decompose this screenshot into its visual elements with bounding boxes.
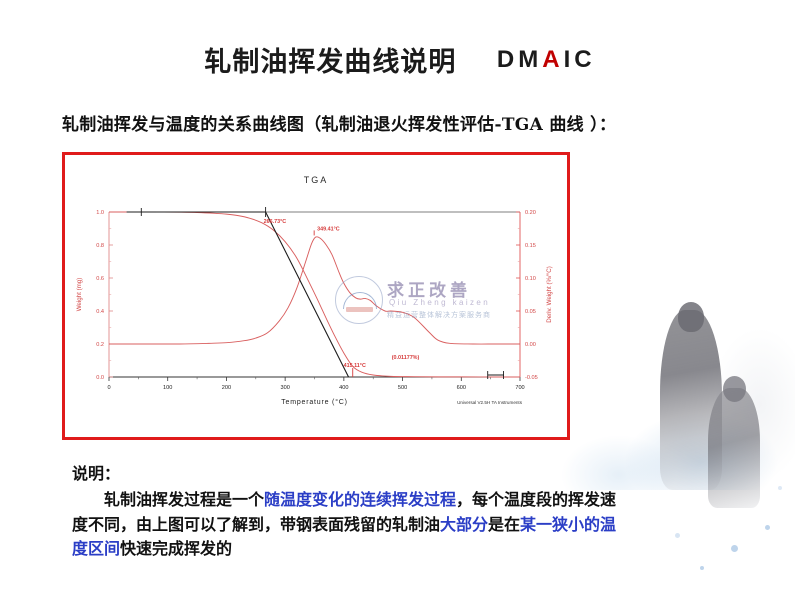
splash-dot bbox=[778, 486, 782, 490]
dmaic-letter-i: I bbox=[564, 46, 575, 73]
tga-chart: TGA 1.00.80.60.40.20.00.200.150.100.050.… bbox=[65, 155, 567, 437]
svg-text:415.11°C: 415.11°C bbox=[344, 363, 366, 369]
figure-silhouette-short bbox=[708, 388, 760, 508]
svg-text:0: 0 bbox=[107, 385, 110, 391]
svg-text:0.8: 0.8 bbox=[96, 243, 104, 249]
splash-dot bbox=[700, 566, 704, 570]
explanation-block: 说明： 轧制油挥发过程是一个随温度变化的连续挥发过程，每个温度段的挥发速度不同，… bbox=[72, 462, 632, 561]
chart-title: TGA bbox=[65, 175, 567, 185]
dmaic-letter-a: A bbox=[542, 46, 563, 73]
svg-text:Temperature (°C): Temperature (°C) bbox=[281, 398, 348, 406]
svg-text:Weight (mg): Weight (mg) bbox=[76, 278, 83, 312]
splash-dot bbox=[765, 525, 770, 530]
svg-text:0.15: 0.15 bbox=[525, 243, 536, 249]
svg-text:266.73°C: 266.73°C bbox=[264, 219, 287, 225]
svg-text:200: 200 bbox=[222, 385, 231, 391]
svg-text:Deriv. Weight (%/°C): Deriv. Weight (%/°C) bbox=[546, 266, 553, 323]
explanation-heading: 说明： bbox=[72, 462, 632, 486]
svg-text:600: 600 bbox=[457, 385, 466, 391]
svg-text:0.2: 0.2 bbox=[96, 342, 104, 348]
tga-plot-svg: 1.00.80.60.40.20.00.200.150.100.050.00-0… bbox=[65, 155, 567, 437]
series-weight--mg- bbox=[109, 212, 520, 377]
dmaic-letter-d: D bbox=[497, 46, 518, 73]
svg-text:-0.05: -0.05 bbox=[525, 375, 538, 381]
explanation-highlight-1: 随温度变化的连续挥发过程 bbox=[264, 490, 456, 509]
svg-text:349.41°C: 349.41°C bbox=[317, 226, 340, 232]
explanation-text-3: 是在 bbox=[488, 515, 520, 534]
svg-text:700: 700 bbox=[515, 385, 524, 391]
series-deriv--weight-----c- bbox=[109, 237, 520, 344]
explanation-body: 轧制油挥发过程是一个随温度变化的连续挥发过程，每个温度段的挥发速度不同，由上图可… bbox=[72, 488, 632, 561]
section-subtitle: 轧制油挥发与温度的关系曲线图（轧制油退火挥发性评估-TGA 曲线 ）： bbox=[62, 110, 762, 135]
page-title: 轧制油挥发曲线说明 bbox=[204, 40, 456, 79]
svg-text:1.0: 1.0 bbox=[96, 210, 104, 216]
splash-dot bbox=[675, 533, 680, 538]
figure-silhouette-tall bbox=[660, 310, 722, 490]
svg-text:(0.01177%): (0.01177%) bbox=[392, 355, 420, 361]
svg-text:Universal V2.5H TA Instruments: Universal V2.5H TA Instruments bbox=[457, 400, 523, 405]
svg-text:0.6: 0.6 bbox=[96, 276, 104, 282]
svg-text:0.0: 0.0 bbox=[96, 375, 104, 381]
explanation-text-4: 快速完成挥发的 bbox=[120, 539, 232, 558]
svg-text:0.20: 0.20 bbox=[525, 210, 536, 216]
splash-dot bbox=[731, 545, 738, 552]
svg-text:500: 500 bbox=[398, 385, 407, 391]
slide-title-row: 轧制油挥发曲线说明 DMAIC bbox=[0, 40, 800, 79]
explanation-text-1: 轧制油挥发过程是一个 bbox=[104, 490, 264, 509]
svg-text:0.00: 0.00 bbox=[525, 342, 536, 348]
explanation-highlight-2: 大部分 bbox=[440, 515, 488, 534]
svg-text:0.4: 0.4 bbox=[96, 309, 104, 315]
figure-head-tall bbox=[678, 302, 704, 332]
tga-chart-frame: TGA 1.00.80.60.40.20.00.200.150.100.050.… bbox=[62, 152, 570, 440]
svg-text:100: 100 bbox=[163, 385, 172, 391]
svg-text:400: 400 bbox=[339, 385, 348, 391]
svg-text:0.10: 0.10 bbox=[525, 276, 536, 282]
figure-head-short bbox=[723, 376, 746, 402]
svg-text:0.05: 0.05 bbox=[525, 309, 536, 315]
svg-text:300: 300 bbox=[280, 385, 289, 391]
dmaic-letter-c: C bbox=[574, 46, 595, 73]
dmaic-letter-m: M bbox=[518, 46, 542, 73]
dmaic-badge: DMAIC bbox=[497, 46, 596, 74]
